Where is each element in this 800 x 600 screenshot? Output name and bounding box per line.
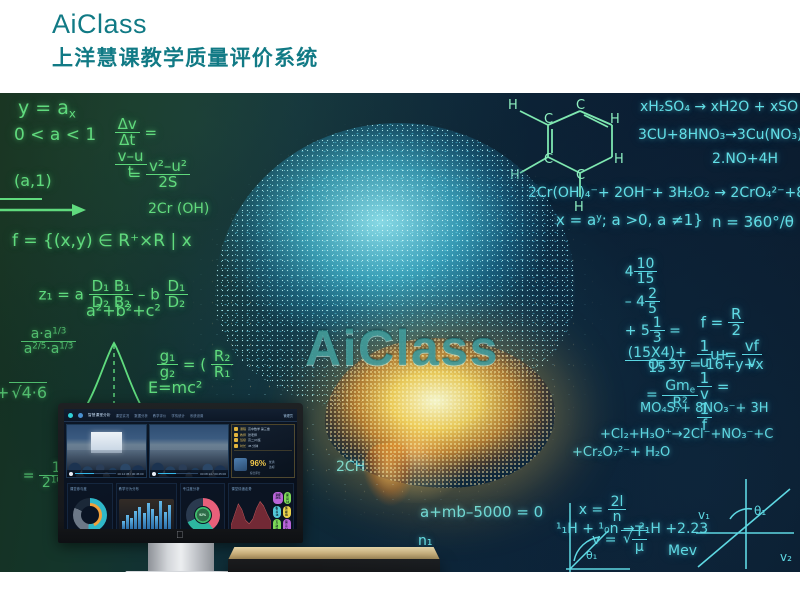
nav-item-3[interactable]: 学情统计 — [171, 413, 185, 418]
video-progress-b[interactable] — [158, 473, 199, 474]
card-behavior[interactable]: 教学行为分布 异常 0 项 行为监测 — [116, 483, 177, 529]
info-key-3: 时长 — [240, 444, 246, 448]
info-value-3: 45 分钟 — [248, 444, 258, 448]
svg-text:C: C — [576, 98, 585, 113]
formula-lens-equation: 1u + 1v = 1f — [668, 321, 730, 452]
area-chart-emotion — [231, 498, 271, 529]
formula-range-a: 0 < a < 1 — [14, 125, 96, 145]
apple-logo-icon:  — [176, 531, 185, 541]
bar — [122, 521, 125, 529]
video-progress-a[interactable] — [75, 473, 116, 474]
video-controls-a[interactable]: 00:12:35 / 00:45:00 — [67, 470, 146, 477]
formula-o3y: O: 3y = 16+y+x — [648, 357, 764, 373]
tag-0-1[interactable]: 提问 12 — [284, 492, 291, 504]
info-key-2: 班级 — [240, 438, 246, 442]
svg-text:H: H — [508, 98, 518, 113]
set-top-box-device: AiClass — [228, 547, 440, 572]
score-side-0: 优秀 — [269, 460, 275, 464]
bar — [134, 511, 137, 529]
score-block: 96% 综合评分 优秀 达标 — [234, 450, 292, 475]
tag-2-0[interactable]: 互动 21 — [273, 519, 281, 529]
dashboard-navbar: 智慧课堂分析 课堂实况 数据分析 教学评价 学情统计 系统设置 管理员 — [64, 409, 297, 422]
nav-user-label[interactable]: 管理员 — [283, 413, 293, 418]
clock-icon — [234, 444, 238, 448]
svg-text:v₁: v₁ — [698, 508, 710, 522]
formula-y-ax: y = ax — [18, 97, 76, 120]
monitor-device: 智慧课堂分析 课堂实况 数据分析 教学评价 学情统计 系统设置 管理员 — [58, 403, 303, 568]
formula-point-a1: (a,1) — [14, 171, 52, 190]
formula-a-power: a·a1/3a2/5·a1/3 — [0, 311, 76, 373]
card-focus[interactable]: 专注度分析 92% 50% 听讲 — [180, 483, 226, 529]
brand-title: AiClass — [52, 8, 147, 41]
play-icon[interactable] — [69, 472, 73, 476]
formula-gravity: = GmeR² — [646, 379, 698, 411]
bar — [130, 518, 133, 529]
info-value-0: 高中数学 第三章 — [248, 427, 270, 431]
nav-item-1[interactable]: 数据分析 — [134, 413, 148, 418]
formula-set-builder: f = {(x,y) ∈ R⁺×R | x — [12, 231, 192, 251]
bar — [164, 512, 167, 529]
page-title: 上洋慧课教学质量评价系统 — [52, 45, 318, 73]
video-feed-a[interactable]: 00:12:35 / 00:45:00 — [66, 424, 147, 478]
info-key-0: 课程 — [240, 427, 246, 431]
card-body-3: 讲授 35% 提问 12 板书 18 巡视 09 互动 21 — [231, 492, 291, 529]
formula-pythag-sum: a²+b²+c² — [86, 301, 161, 320]
info-value-1: 张老师 — [248, 433, 257, 437]
video-row: 00:12:35 / 00:45:00 00:08:14 / 00:45:00 — [64, 422, 297, 480]
formula-mev: Mev — [668, 543, 697, 559]
info-row-0: 课程 高中数学 第三章 — [234, 427, 292, 431]
formula-focal-length: f = R2 u = vfv — [672, 289, 762, 388]
monitor-bezel: 智慧课堂分析 课堂实况 数据分析 教学评价 学情统计 系统设置 管理员 — [58, 403, 303, 543]
dashboard-screen[interactable]: 智慧课堂分析 课堂实况 数据分析 教学评价 学情统计 系统设置 管理员 — [64, 409, 297, 529]
tag-cloud: 讲授 35% 提问 12 板书 18 巡视 09 互动 21 — [273, 492, 291, 529]
info-row-3: 时长 45 分钟 — [234, 444, 292, 448]
share-icon[interactable] — [78, 413, 83, 418]
score-value: 96% — [250, 459, 266, 468]
vector-angle-diagram: θ₁ v₁ v₂ — [690, 475, 798, 571]
tag-1-1[interactable]: 巡视 09 — [283, 506, 291, 518]
footer-whitespace — [0, 572, 800, 600]
svg-text:v₂: v₂ — [780, 550, 792, 564]
card-title-2: 专注度分析 — [183, 486, 223, 491]
nav-item-2[interactable]: 教学评价 — [153, 413, 167, 418]
card-body-1 — [119, 492, 174, 529]
formula-polygon-angle: n = 360°/θ — [712, 213, 794, 231]
nav-item-4[interactable]: 系统设置 — [190, 413, 204, 418]
formula-h2so4: xH₂SO₄ → xH2O + xSO — [640, 99, 798, 115]
bar-chart-behavior — [119, 499, 174, 529]
donut-chart-participation — [73, 498, 107, 529]
video-time-a: 00:12:35 / 00:45:00 — [118, 472, 144, 476]
class-icon — [234, 438, 238, 442]
svg-text:θ₁: θ₁ — [586, 549, 597, 562]
area-series — [231, 502, 271, 529]
avatar — [234, 458, 247, 471]
tag-row-1: 板书 18 巡视 09 — [273, 506, 291, 518]
info-value-2: 高二(3)班 — [248, 438, 261, 442]
card-participation[interactable]: 课堂参与度 58% 学生互动 86% — [67, 483, 113, 529]
tag-0-0[interactable]: 讲授 35% — [273, 492, 282, 504]
tag-row-0: 讲授 35% 提问 12 — [273, 492, 291, 504]
formula-no-plus: 2.NO+4H — [712, 151, 778, 167]
chart-row: 课堂参与度 58% 学生互动 86% — [64, 480, 297, 529]
home-icon[interactable] — [68, 413, 73, 418]
bar — [147, 503, 150, 529]
video-time-b: 00:08:14 / 00:45:00 — [200, 472, 226, 476]
card-body-0 — [70, 492, 110, 529]
bar — [138, 507, 141, 529]
formula-sqrt-46: +√4·6 — [0, 383, 47, 402]
donut-chart-focus: 92% — [186, 498, 220, 529]
svg-text:H: H — [614, 152, 624, 167]
tag-row-2: 互动 21 演示 14 — [273, 519, 291, 529]
book-icon — [234, 427, 238, 431]
hero-image: y = ax 0 < a < 1 (a,1) ΔvΔt = v–ut = v²–… — [0, 93, 800, 572]
card-title-1: 教学行为分布 — [119, 486, 174, 491]
page-header: AiClass 上洋慧课教学质量评价系统 — [0, 0, 800, 93]
axis-arrow-icon — [0, 197, 90, 223]
page-root: AiClass 上洋慧课教学质量评价系统 y = ax 0 < a < 1 (a… — [0, 0, 800, 600]
card-emotion[interactable]: 课堂情绪走势 讲授 35% 提问 — [228, 483, 294, 529]
card-title-3: 课堂情绪走势 — [231, 486, 291, 491]
tag-1-0[interactable]: 板书 18 — [273, 506, 281, 518]
formula-mo4s7: MO₄S₇+ 8NO₃⁻+ 3H — [640, 401, 769, 416]
svg-text:θ₁: θ₁ — [754, 504, 766, 518]
bar — [126, 515, 129, 529]
tag-2-1[interactable]: 演示 14 — [283, 519, 291, 529]
score-caption: 综合评分 — [250, 471, 266, 475]
bar — [155, 516, 158, 529]
formula-delta-v: ΔvΔt = v–ut — [86, 99, 157, 198]
nav-item-0[interactable]: 课堂实况 — [116, 413, 130, 418]
card-title-0: 课堂参与度 — [70, 486, 110, 491]
info-key-1: 教师 — [240, 433, 246, 437]
focus-center-value: 92% — [195, 507, 211, 523]
dashboard-title: 智慧课堂分析 — [88, 413, 111, 418]
video-feed-b[interactable]: 00:08:14 / 00:45:00 — [149, 424, 230, 478]
bar — [168, 505, 171, 529]
box-front-panel: AiClass — [228, 559, 440, 572]
bar — [159, 501, 162, 529]
formula-cl2-h3o: +Cl₂+H₃O⁺→2Cl⁻+NO₃⁻+C — [600, 427, 773, 442]
play-icon[interactable] — [152, 472, 156, 476]
teacher-icon — [234, 433, 238, 437]
formula-determinant: z₁ = a D₁ B₁D₂ B₂ – b D₁D₂ — [10, 261, 188, 329]
info-row-1: 教师 张老师 — [234, 433, 292, 437]
score-side-1: 达标 — [269, 465, 275, 469]
formula-cu-hno3: 3CU+8HNO₃→3Cu(NO₃) — [638, 127, 800, 143]
info-row-2: 班级 高二(3)班 — [234, 438, 292, 442]
score-side-metrics: 优秀 达标 — [269, 460, 275, 469]
card-body-2: 92% — [183, 492, 223, 529]
bar — [143, 513, 146, 529]
course-info-panel: 课程 高中数学 第三章 教师 张老师 班级 高二(3 — [231, 424, 295, 478]
monitor-neck — [148, 543, 214, 572]
bar — [151, 509, 154, 529]
video-controls-b[interactable]: 00:08:14 / 00:45:00 — [150, 470, 229, 477]
brain-aiclass-label: AiClass — [237, 319, 567, 377]
